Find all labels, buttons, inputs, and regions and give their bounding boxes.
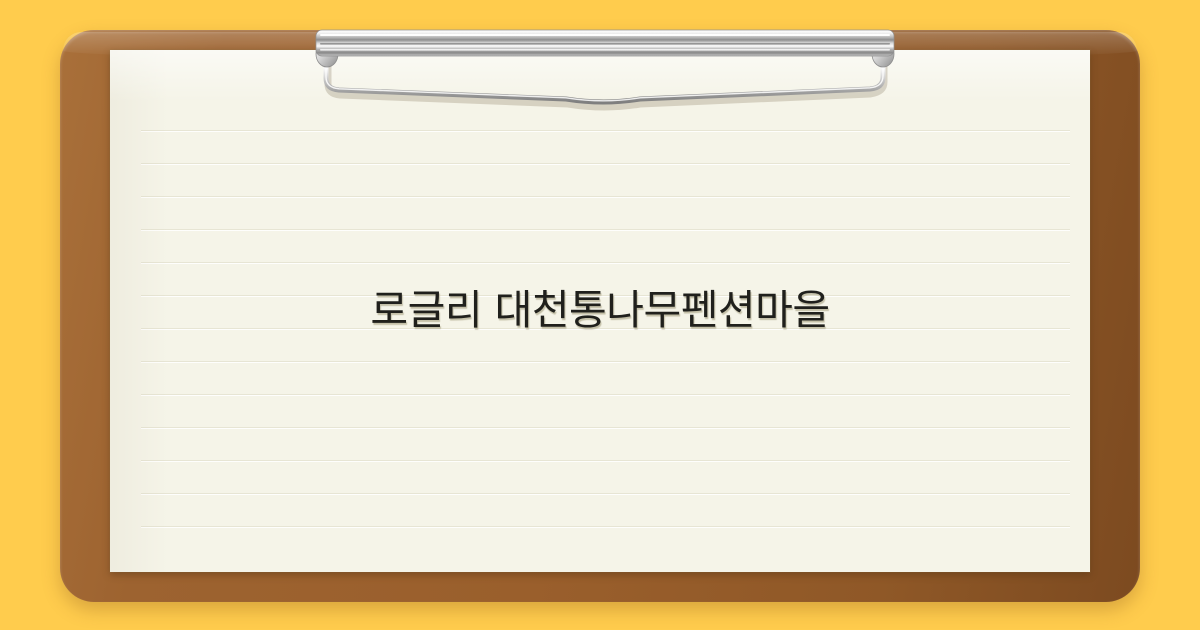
rule-line: [141, 262, 1070, 263]
rule-line: [141, 328, 1070, 329]
rule-line: [141, 295, 1070, 296]
rule-line: [141, 163, 1070, 164]
clipboard-board: 로글리 대천통나무펜션마을: [60, 30, 1140, 602]
rule-line: [141, 493, 1070, 494]
rule-line: [141, 361, 1070, 362]
rule-line: [141, 130, 1070, 131]
rule-line: [141, 460, 1070, 461]
rule-line: [141, 526, 1070, 527]
rule-line: [141, 394, 1070, 395]
title-container: 로글리 대천통나무펜션마을: [110, 50, 1090, 572]
rule-line: [141, 229, 1070, 230]
page-title: 로글리 대천통나무펜션마을: [370, 286, 829, 335]
rule-line: [141, 196, 1070, 197]
rule-line: [141, 427, 1070, 428]
note-paper: 로글리 대천통나무펜션마을: [110, 50, 1090, 572]
ruled-lines: [141, 50, 1070, 572]
card-canvas: 로글리 대천통나무펜션마을: [0, 0, 1200, 630]
